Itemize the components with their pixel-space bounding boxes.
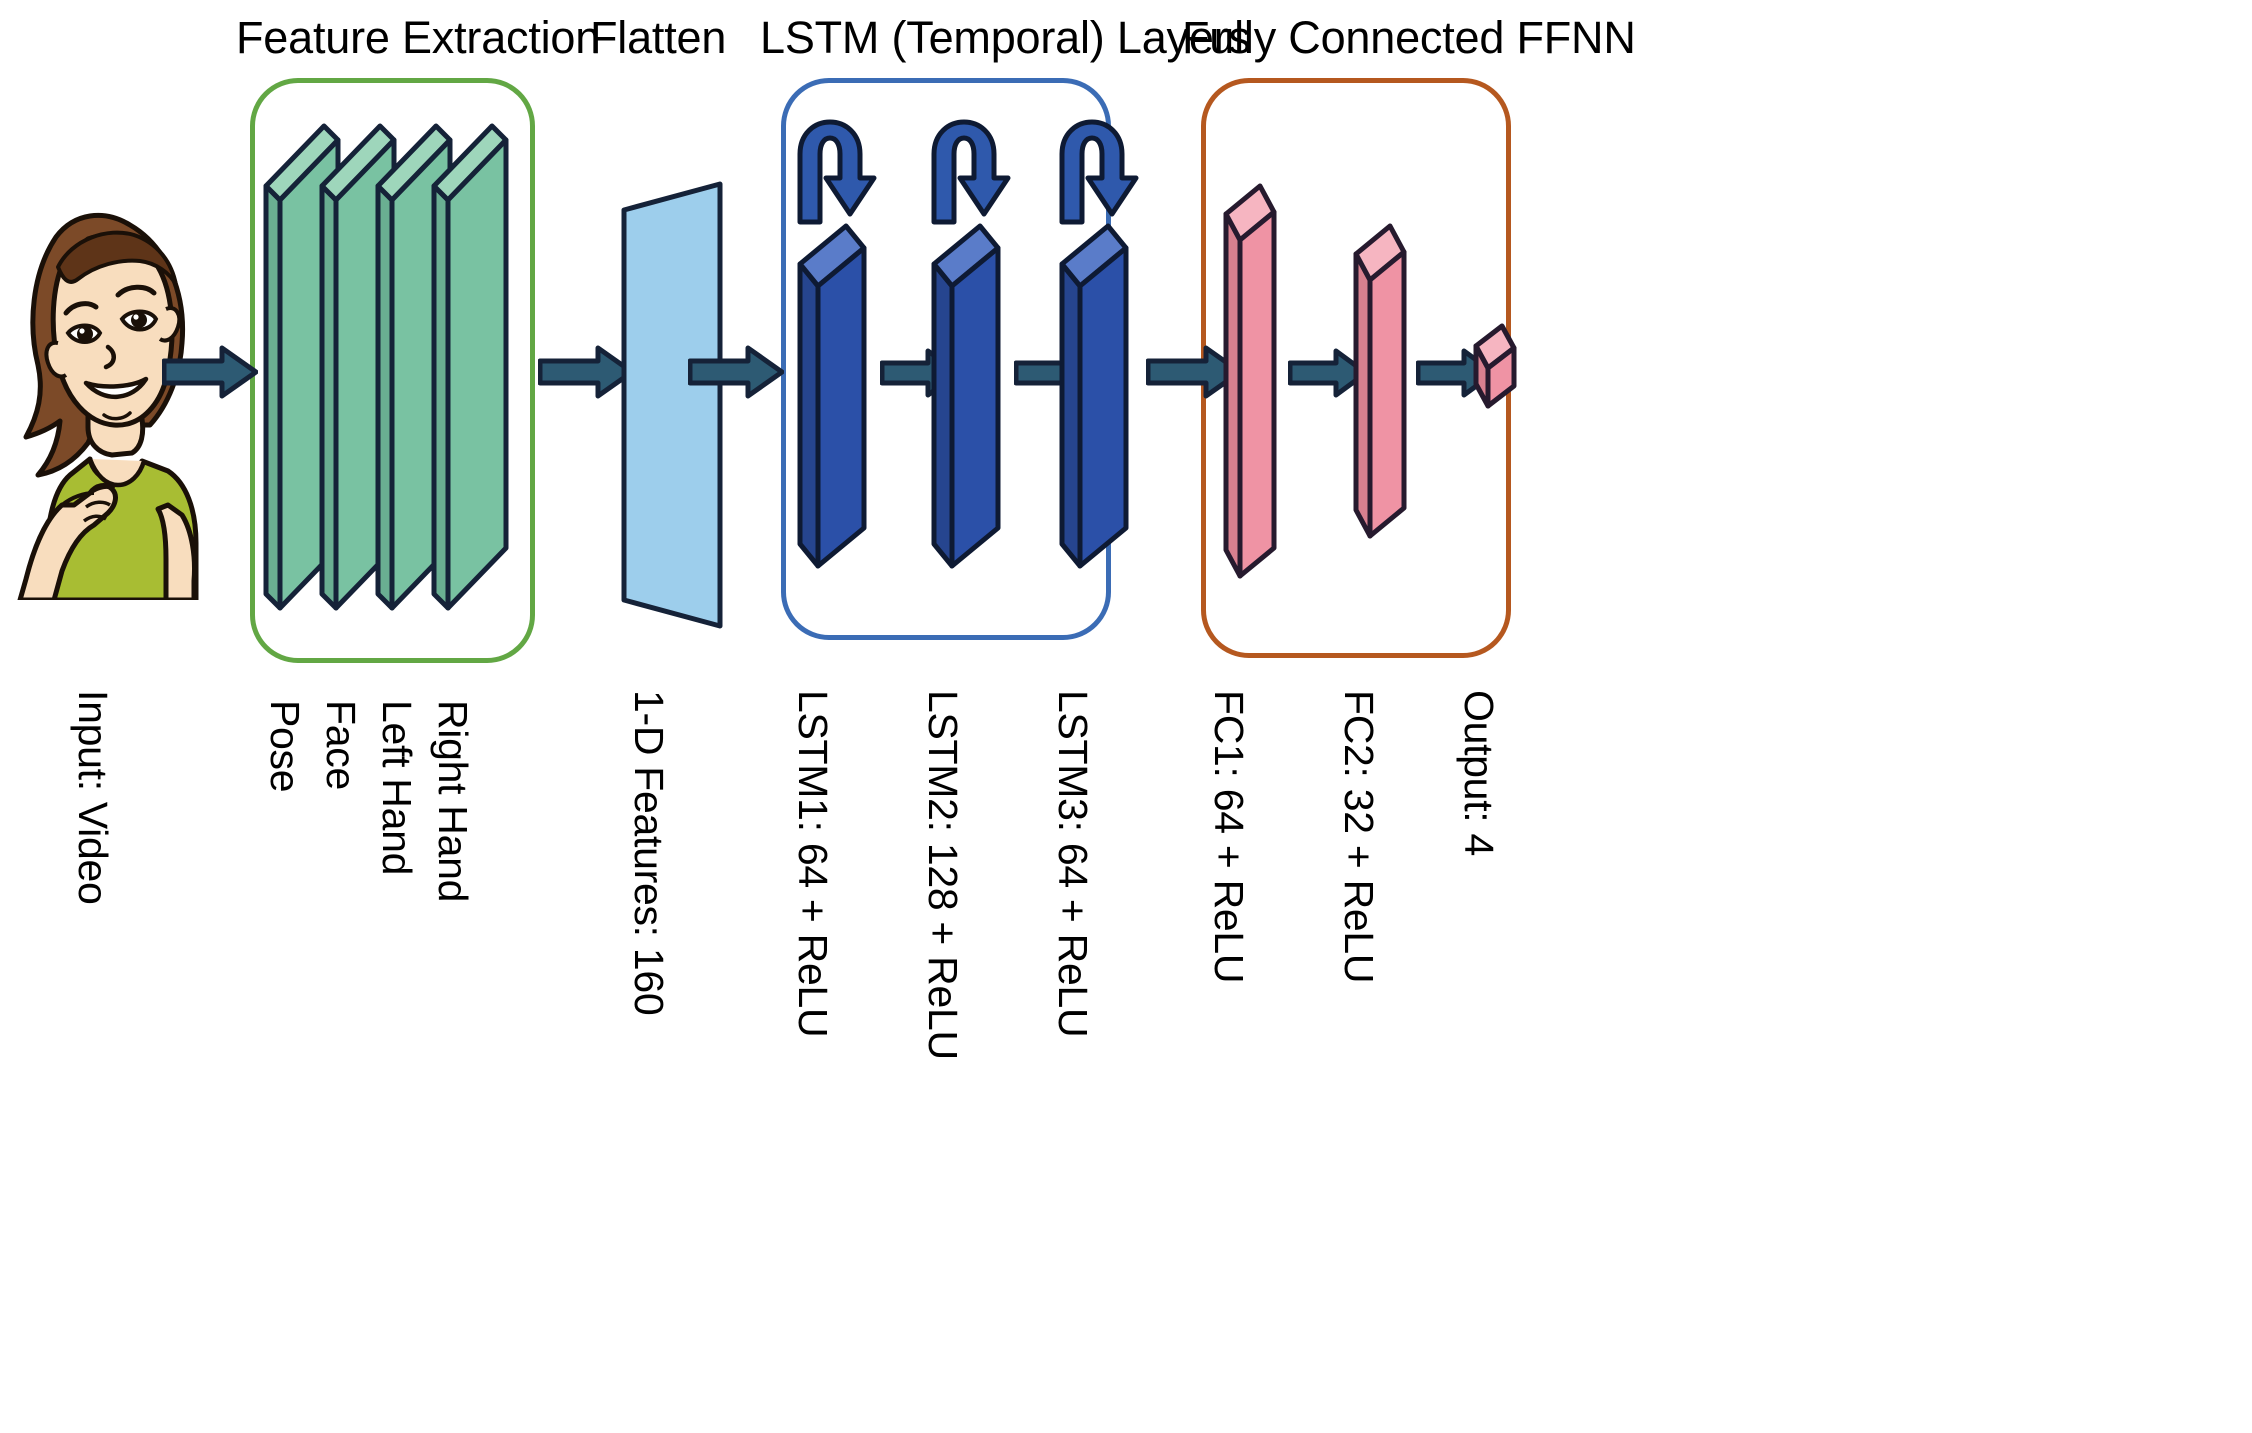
- caption-lstm1: LSTM1: 64 + ReLU: [789, 690, 836, 1037]
- caption-fc1: FC1: 64 + ReLU: [1205, 690, 1252, 983]
- diagram-canvas: Feature Extraction Flatten LSTM (Tempora…: [0, 0, 2252, 1433]
- feature-slab-right-hand: [430, 122, 524, 630]
- caption-left-hand: Left Hand: [373, 700, 420, 875]
- caption-lstm2: LSTM2: 128 + ReLU: [919, 690, 966, 1060]
- fc2-bar: [1352, 222, 1412, 542]
- section-title-lstm: LSTM (Temporal) Layers: [760, 12, 1251, 64]
- section-title-flatten: Flatten: [590, 12, 726, 64]
- lstm3-recurrent-loop-icon: [1056, 118, 1144, 228]
- fc1-bar: [1222, 182, 1282, 582]
- arrow-flatten-to-lstm: [688, 344, 784, 400]
- caption-input-video: Input: Video: [69, 690, 116, 905]
- lstm1-bar: [796, 222, 874, 572]
- caption-flatten-features: 1-D Features: 160: [625, 690, 672, 1015]
- lstm3-bar: [1058, 222, 1136, 572]
- section-title-ffnn: Fully Connected FFNN: [1182, 12, 1636, 64]
- caption-face: Face: [317, 700, 364, 790]
- caption-right-hand: Right Hand: [429, 700, 476, 902]
- caption-output: Output: 4: [1455, 690, 1502, 856]
- section-title-feature-extraction: Feature Extraction: [236, 12, 600, 64]
- output-bar: [1472, 322, 1520, 412]
- caption-pose: Pose: [261, 700, 308, 792]
- arrow-input-to-feature-extraction: [162, 344, 258, 400]
- caption-fc2: FC2: 32 + ReLU: [1335, 690, 1382, 983]
- lstm2-bar: [930, 222, 1008, 572]
- lstm2-recurrent-loop-icon: [928, 118, 1016, 228]
- flatten-parallelogram: [620, 180, 726, 630]
- caption-lstm3: LSTM3: 64 + ReLU: [1049, 690, 1096, 1037]
- lstm1-recurrent-loop-icon: [794, 118, 882, 228]
